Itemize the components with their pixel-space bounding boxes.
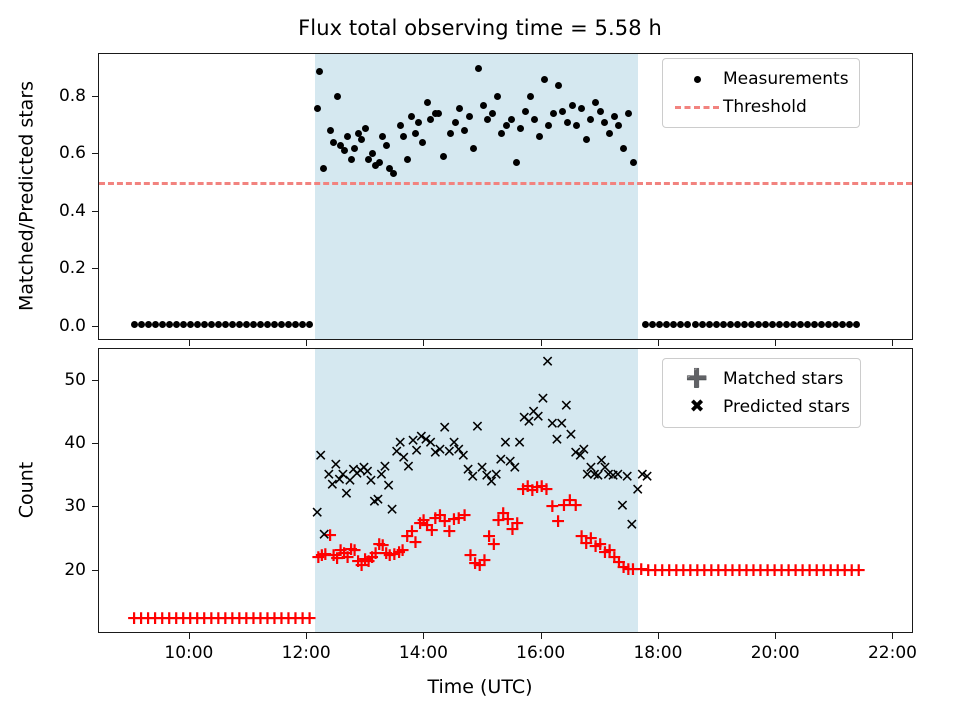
data-point-measurement	[776, 321, 783, 328]
x-axis-tick	[658, 633, 659, 639]
x-axis-tick-upper	[189, 340, 190, 346]
data-point-measurement	[341, 147, 348, 154]
top-panel-legend[interactable]: Measurements Threshold	[662, 58, 860, 128]
data-point-measurement	[222, 321, 229, 328]
y-axis-tick	[92, 268, 98, 269]
data-point-measurement	[145, 321, 152, 328]
data-point-measurement	[201, 321, 208, 328]
data-point-measurement	[592, 99, 599, 106]
x-axis-tick-label: 10:00	[164, 643, 213, 663]
data-point-measurement	[818, 321, 825, 328]
data-point-measurement	[466, 113, 473, 120]
dot-marker-icon	[671, 76, 723, 83]
x-axis-tick-label: 20:00	[751, 643, 800, 663]
data-point-measurement	[545, 122, 552, 129]
data-point-measurement	[173, 321, 180, 328]
x-axis-tick-label: 14:00	[399, 643, 448, 663]
data-point-measurement	[536, 133, 543, 140]
data-point-measurement	[559, 108, 566, 115]
legend-item-predicted-stars[interactable]: ✖ Predicted stars	[671, 393, 850, 421]
data-point-measurement	[797, 321, 804, 328]
data-point-measurement	[299, 321, 306, 328]
data-point-measurement	[811, 321, 818, 328]
data-point-measurement	[578, 105, 585, 112]
data-point-measurement	[314, 105, 321, 112]
data-point-measurement	[825, 321, 832, 328]
data-point-measurement	[365, 156, 372, 163]
data-point-measurement	[564, 119, 571, 126]
data-point-measurement	[699, 321, 706, 328]
x-axis-tick-label: 18:00	[633, 643, 682, 663]
data-point-measurement	[250, 321, 257, 328]
data-point-measurement	[243, 321, 250, 328]
data-point-measurement	[541, 76, 548, 83]
x-axis-tick	[423, 633, 424, 639]
data-point-measurement	[480, 102, 487, 109]
data-point-measurement	[166, 321, 173, 328]
x-axis-tick	[541, 633, 542, 639]
data-point-measurement	[513, 159, 520, 166]
legend-label-threshold: Threshold	[723, 97, 807, 117]
legend-item-threshold[interactable]: Threshold	[671, 93, 849, 121]
data-point-measurement	[832, 321, 839, 328]
data-point-measurement	[271, 321, 278, 328]
shaded-observing-window	[315, 349, 638, 632]
data-point-measurement	[503, 122, 510, 129]
legend-label-predicted-stars: Predicted stars	[723, 397, 850, 417]
data-point-measurement	[152, 321, 159, 328]
data-point-measurement	[397, 122, 404, 129]
data-point-measurement	[569, 102, 576, 109]
data-point-measurement	[706, 321, 713, 328]
page-title: Flux total observing time = 5.58 h	[0, 16, 960, 40]
x-axis-title: Time (UTC)	[0, 676, 960, 698]
x-axis-tick-upper	[892, 340, 893, 346]
legend-label-matched-stars: Matched stars	[723, 369, 843, 389]
y-axis-tick	[92, 153, 98, 154]
data-point-measurement	[769, 321, 776, 328]
data-point-measurement	[734, 321, 741, 328]
data-point-measurement	[215, 321, 222, 328]
bottom-panel-legend[interactable]: ➕ Matched stars ✖ Predicted stars	[662, 358, 861, 428]
data-point-measurement	[684, 321, 691, 328]
data-point-measurement	[630, 159, 637, 166]
x-axis-tick-upper	[306, 340, 307, 346]
data-point-measurement	[762, 321, 769, 328]
data-point-measurement	[229, 321, 236, 328]
data-point-measurement	[369, 150, 376, 157]
x-axis-tick-label: 16:00	[516, 643, 565, 663]
x-axis-tick-upper	[658, 340, 659, 346]
data-point-measurement	[180, 321, 187, 328]
data-point-measurement	[713, 321, 720, 328]
data-point-measurement	[404, 156, 411, 163]
data-point-measurement	[285, 321, 292, 328]
data-point-measurement	[452, 119, 459, 126]
data-point-measurement	[663, 321, 670, 328]
data-point-measurement	[362, 125, 369, 132]
data-point-measurement	[517, 125, 524, 132]
data-point-measurement	[790, 321, 797, 328]
data-point-measurement	[522, 108, 529, 115]
data-point-measurement	[839, 321, 846, 328]
y-axis-tick	[92, 211, 98, 212]
data-point-measurement	[470, 145, 477, 152]
data-point-measurement	[351, 145, 358, 152]
data-point-measurement	[555, 82, 562, 89]
threshold-line	[99, 182, 912, 185]
dashed-line-icon	[671, 106, 723, 109]
data-point-measurement	[390, 170, 397, 177]
data-point-measurement	[327, 127, 334, 134]
x-axis-tick	[189, 633, 190, 639]
data-point-measurement	[494, 93, 501, 100]
data-point-measurement	[508, 116, 515, 123]
data-point-measurement	[131, 321, 138, 328]
legend-item-matched-stars[interactable]: ➕ Matched stars	[671, 365, 850, 393]
data-point-measurement	[649, 321, 656, 328]
data-point-measurement	[383, 142, 390, 149]
x-axis-tick	[306, 633, 307, 639]
data-point-measurement	[348, 156, 355, 163]
data-point-measurement	[208, 321, 215, 328]
data-point-measurement	[316, 68, 323, 75]
data-point-measurement	[278, 321, 285, 328]
data-point-measurement	[376, 159, 383, 166]
data-point-measurement	[334, 93, 341, 100]
data-point-measurement	[677, 321, 684, 328]
x-axis-tick-upper	[541, 340, 542, 346]
top-panel-y-axis-title: Matched/Predicted stars	[15, 52, 37, 339]
data-point-measurement	[620, 145, 627, 152]
y-axis-tick	[92, 326, 98, 327]
data-point-measurement	[748, 321, 755, 328]
data-point-measurement	[330, 139, 337, 146]
data-point-measurement	[583, 136, 590, 143]
y-axis-tick	[92, 96, 98, 97]
data-point-measurement	[159, 321, 166, 328]
data-point-measurement	[853, 321, 860, 328]
x-axis-tick-upper	[423, 340, 424, 346]
data-point-measurement	[306, 321, 313, 328]
data-point-measurement	[138, 321, 145, 328]
shaded-observing-window	[315, 54, 638, 339]
data-point-measurement	[727, 321, 734, 328]
data-point-measurement	[236, 321, 243, 328]
data-point-measurement	[692, 321, 699, 328]
data-point-measurement	[320, 165, 327, 172]
y-axis-tick	[92, 443, 98, 444]
x-axis-tick	[892, 633, 893, 639]
x-axis-tick-label: 12:00	[282, 643, 331, 663]
legend-label-measurements: Measurements	[723, 69, 849, 89]
data-point-measurement	[264, 321, 271, 328]
bottom-panel-y-axis-title: Count	[15, 347, 37, 632]
figure-canvas: Flux total observing time = 5.58 h 0.00.…	[0, 0, 960, 720]
x-axis-tick-label: 22:00	[868, 643, 917, 663]
x-axis-tick-upper	[775, 340, 776, 346]
data-point-measurement	[292, 321, 299, 328]
x-axis-tick	[775, 633, 776, 639]
data-point-measurement	[194, 321, 201, 328]
data-point-measurement	[527, 93, 534, 100]
data-point-measurement	[783, 321, 790, 328]
data-point-measurement	[720, 321, 727, 328]
cross-marker-icon: ✖	[671, 398, 723, 416]
data-point-measurement	[642, 321, 649, 328]
data-point-measurement	[846, 321, 853, 328]
y-axis-tick	[92, 506, 98, 507]
data-point-measurement	[755, 321, 762, 328]
data-point-measurement	[741, 321, 748, 328]
data-point-measurement	[656, 321, 663, 328]
data-point-measurement	[611, 113, 618, 120]
data-point-measurement	[419, 139, 426, 146]
y-axis-tick	[92, 570, 98, 571]
data-point-measurement	[257, 321, 264, 328]
data-point-measurement	[804, 321, 811, 328]
data-point-measurement	[424, 99, 431, 106]
plus-marker-icon: ➕	[671, 370, 723, 388]
legend-item-measurements[interactable]: Measurements	[671, 65, 849, 93]
data-point-measurement	[475, 65, 482, 72]
data-point-measurement	[187, 321, 194, 328]
data-point-measurement	[597, 108, 604, 115]
data-point-measurement	[456, 105, 463, 112]
y-axis-tick	[92, 380, 98, 381]
data-point-measurement	[670, 321, 677, 328]
